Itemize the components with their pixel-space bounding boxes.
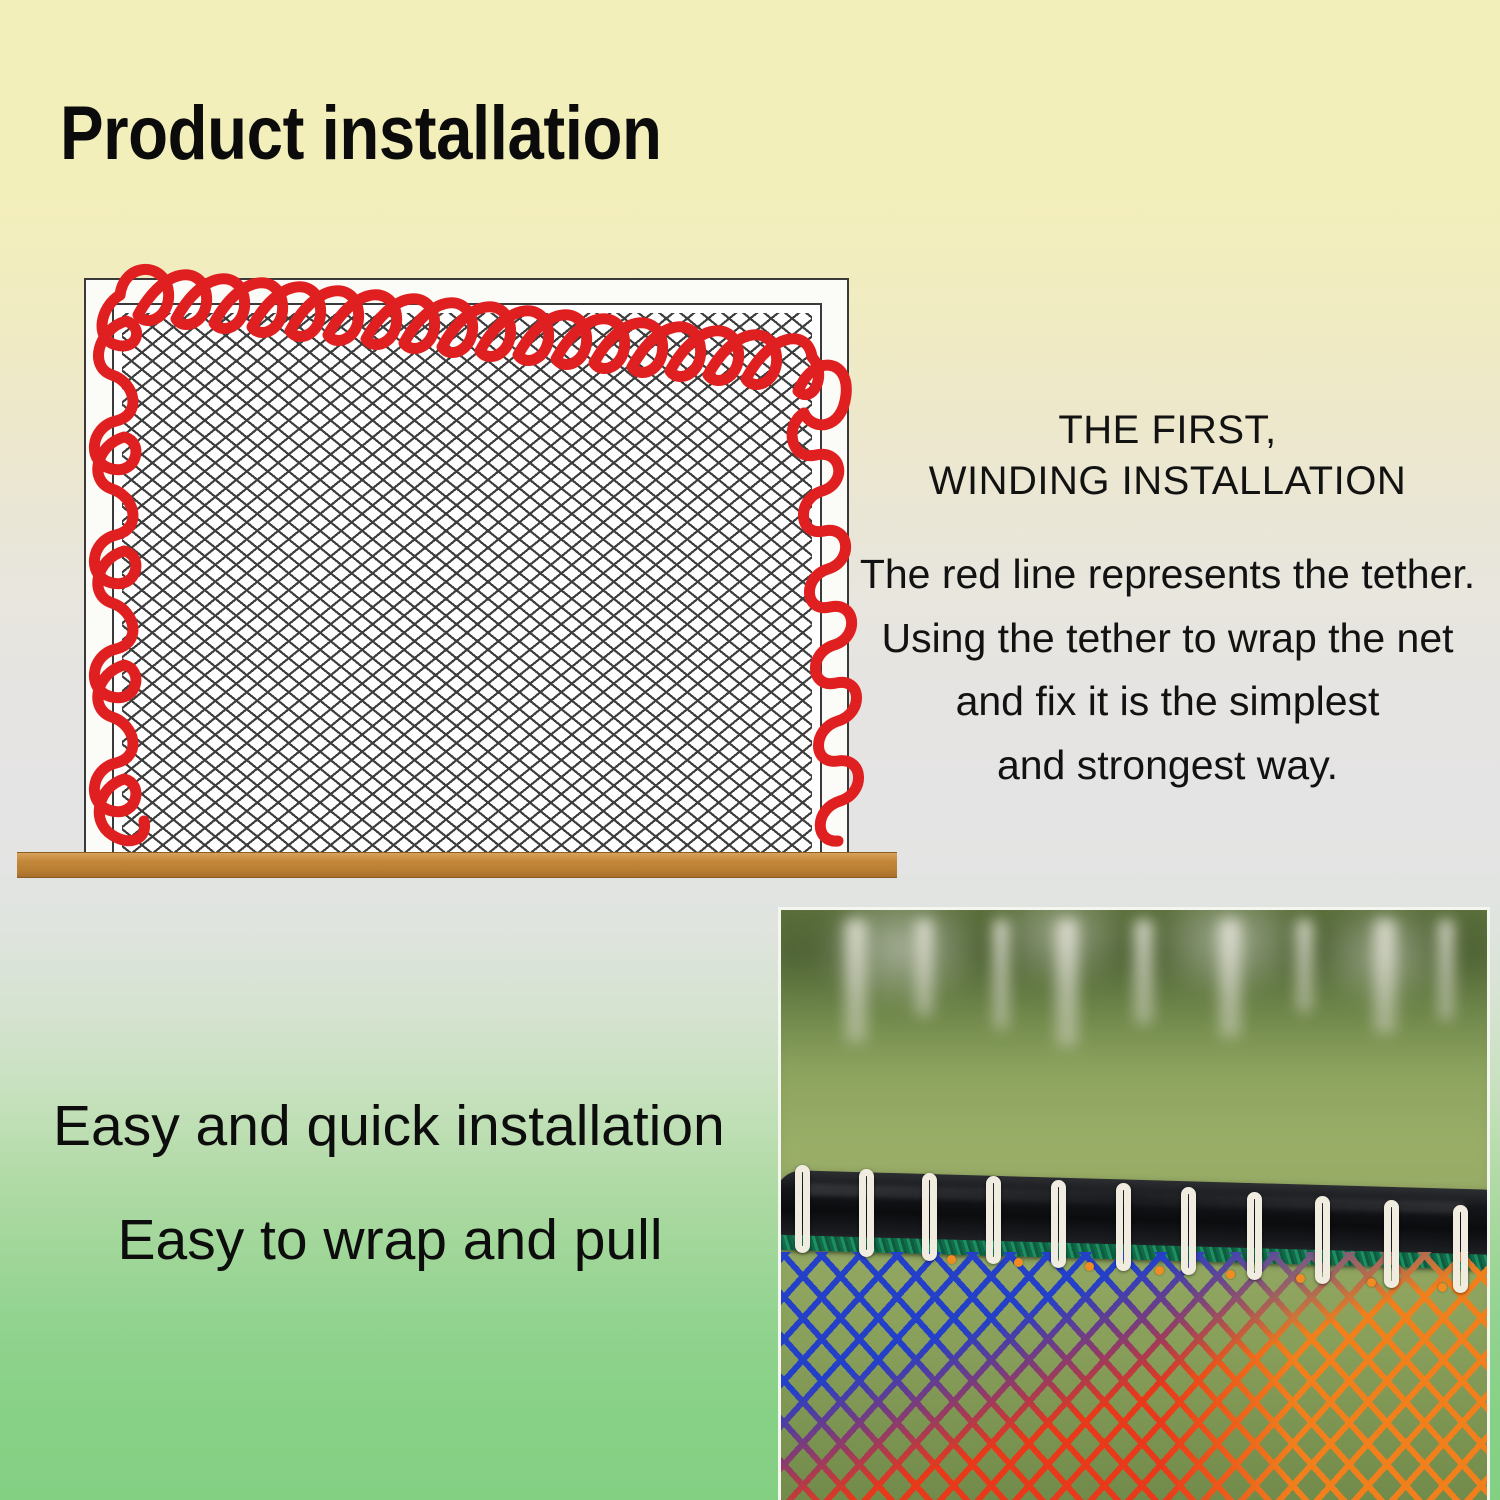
- rope-loop: [859, 1169, 874, 1257]
- benefit-text-block: Easy and quick installation Easy to wrap…: [45, 1098, 735, 1269]
- rope-loop: [1315, 1196, 1330, 1284]
- rope-loop: [795, 1165, 810, 1253]
- net-mesh-fill: [122, 313, 812, 853]
- winding-installation-diagram: [12, 255, 912, 880]
- rope-loop: [1384, 1200, 1399, 1288]
- net-knot: [947, 1255, 956, 1264]
- net-knot: [1226, 1270, 1235, 1279]
- benefit-line-2: Easy to wrap and pull: [45, 1212, 735, 1269]
- page-title: Product installation: [60, 96, 661, 172]
- instruction-body-line-4: and strongest way.: [845, 734, 1490, 798]
- instruction-heading-line-1: THE FIRST,: [845, 405, 1490, 456]
- instruction-body-line-3: and fix it is the simplest: [845, 670, 1490, 734]
- rope-loop: [986, 1176, 1001, 1264]
- rope-loop: [922, 1173, 937, 1261]
- benefit-line-1: Easy and quick installation: [45, 1098, 735, 1155]
- instruction-body-line-2: Using the tether to wrap the net: [845, 607, 1490, 671]
- net-knot: [1155, 1266, 1164, 1275]
- rope-loop: [1453, 1205, 1468, 1293]
- infographic-canvas: Product installation THE FIRST, WINDING …: [0, 0, 1500, 1500]
- instruction-text-block: THE FIRST, WINDING INSTALLATION The red …: [845, 405, 1490, 798]
- instruction-heading-line-2: WINDING INSTALLATION: [845, 456, 1490, 507]
- rope-loop: [1116, 1183, 1131, 1271]
- net-knot: [1367, 1278, 1376, 1287]
- net-knot: [1085, 1262, 1094, 1271]
- instruction-body-line-1: The red line represents the tether.: [845, 543, 1490, 607]
- rope-loop: [1247, 1192, 1262, 1280]
- net-on-pole-photo: [778, 907, 1490, 1500]
- net-knot: [1438, 1283, 1447, 1292]
- ground-bar: [17, 852, 897, 878]
- rope-loop: [1181, 1187, 1196, 1275]
- instruction-body: The red line represents the tether. Usin…: [845, 543, 1490, 797]
- net-knot: [1296, 1274, 1305, 1283]
- net-knot: [1014, 1258, 1023, 1267]
- rope-loop: [1051, 1180, 1066, 1268]
- photo-rope-loops: [781, 910, 1487, 1500]
